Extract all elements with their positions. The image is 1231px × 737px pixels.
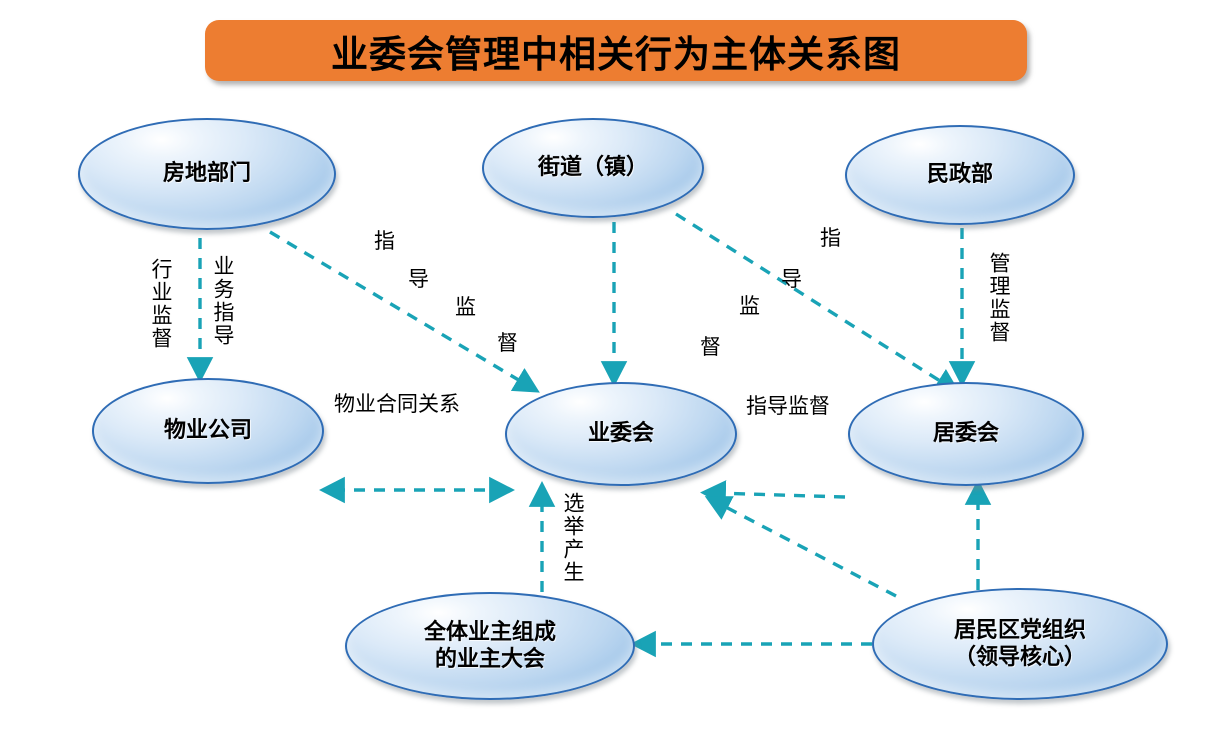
edge-label-zhidao-jiandu-right-char-3: 督 (700, 331, 721, 361)
edge-label-zhidao-jiandu-right-char-2: 监 (739, 290, 760, 320)
edge-label-zhidao-jiandu-right-char-0: 指 (820, 222, 841, 252)
edge-label-zhidao-jiandu-left-char-2: 监 (455, 291, 476, 321)
edge-label-zhidao-jiandu-left-char-0: 指 (374, 225, 395, 255)
node-label: 房地部门 (163, 160, 251, 188)
edge-fangdi-to-yeweihui (270, 232, 527, 385)
node-label: 民政部 (927, 161, 993, 189)
edge-label-zhidao-jiandu-right-char-1: 导 (781, 263, 802, 293)
node-minzhengbu[interactable]: 民政部 (845, 125, 1075, 225)
node-yezhu-dahui[interactable]: 全体业主组成 的业主大会 (345, 592, 635, 700)
page-title: 业委会管理中相关行为主体关系图 (331, 24, 901, 78)
node-label: 居委会 (933, 420, 999, 448)
node-dang-zuzhi[interactable]: 居民区党组织 （领导核心） (872, 588, 1168, 700)
node-yeweihui[interactable]: 业委会 (505, 382, 737, 486)
edge-label-yewu-zhidao: 业务指导 (212, 255, 233, 347)
diagram-canvas: 业委会管理中相关行为主体关系图 (0, 0, 1231, 737)
edge-label-wuye-hetong-guanxi: 物业合同关系 (334, 388, 460, 418)
edge-label-hangye-jiandu: 行业监督 (150, 258, 171, 350)
node-label: 业委会 (588, 420, 654, 448)
node-juweihui[interactable]: 居委会 (848, 382, 1084, 486)
edge-dang-to-yeweihui (718, 503, 896, 596)
edge-label-guanli-jiandu: 管理监督 (988, 252, 1009, 344)
edge-label-xuanju-chansheng: 选举产生 (562, 492, 583, 584)
node-fangdi-bumen[interactable]: 房地部门 (78, 118, 336, 230)
node-label: 街道（镇） (538, 154, 648, 182)
node-label: 物业公司 (164, 417, 252, 445)
edge-jiedao-to-juweihui (676, 214, 948, 386)
edge-label-zhidao-jiandu-left-char-1: 导 (408, 263, 429, 293)
edge-juweihui-to-yeweihui (715, 493, 845, 497)
edge-label-zhidao-jiandu-left-char-3: 督 (497, 327, 518, 357)
edge-label-zhidao-jiandu-horizontal: 指导监督 (746, 390, 830, 420)
node-label: 全体业主组成 的业主大会 (424, 619, 556, 674)
node-wuye-gongsi[interactable]: 物业公司 (92, 378, 324, 484)
diagram-title-banner: 业委会管理中相关行为主体关系图 (205, 20, 1027, 81)
node-jiedao-zhen[interactable]: 街道（镇） (482, 118, 704, 218)
node-label: 居民区党组织 （领导核心） (954, 617, 1086, 672)
